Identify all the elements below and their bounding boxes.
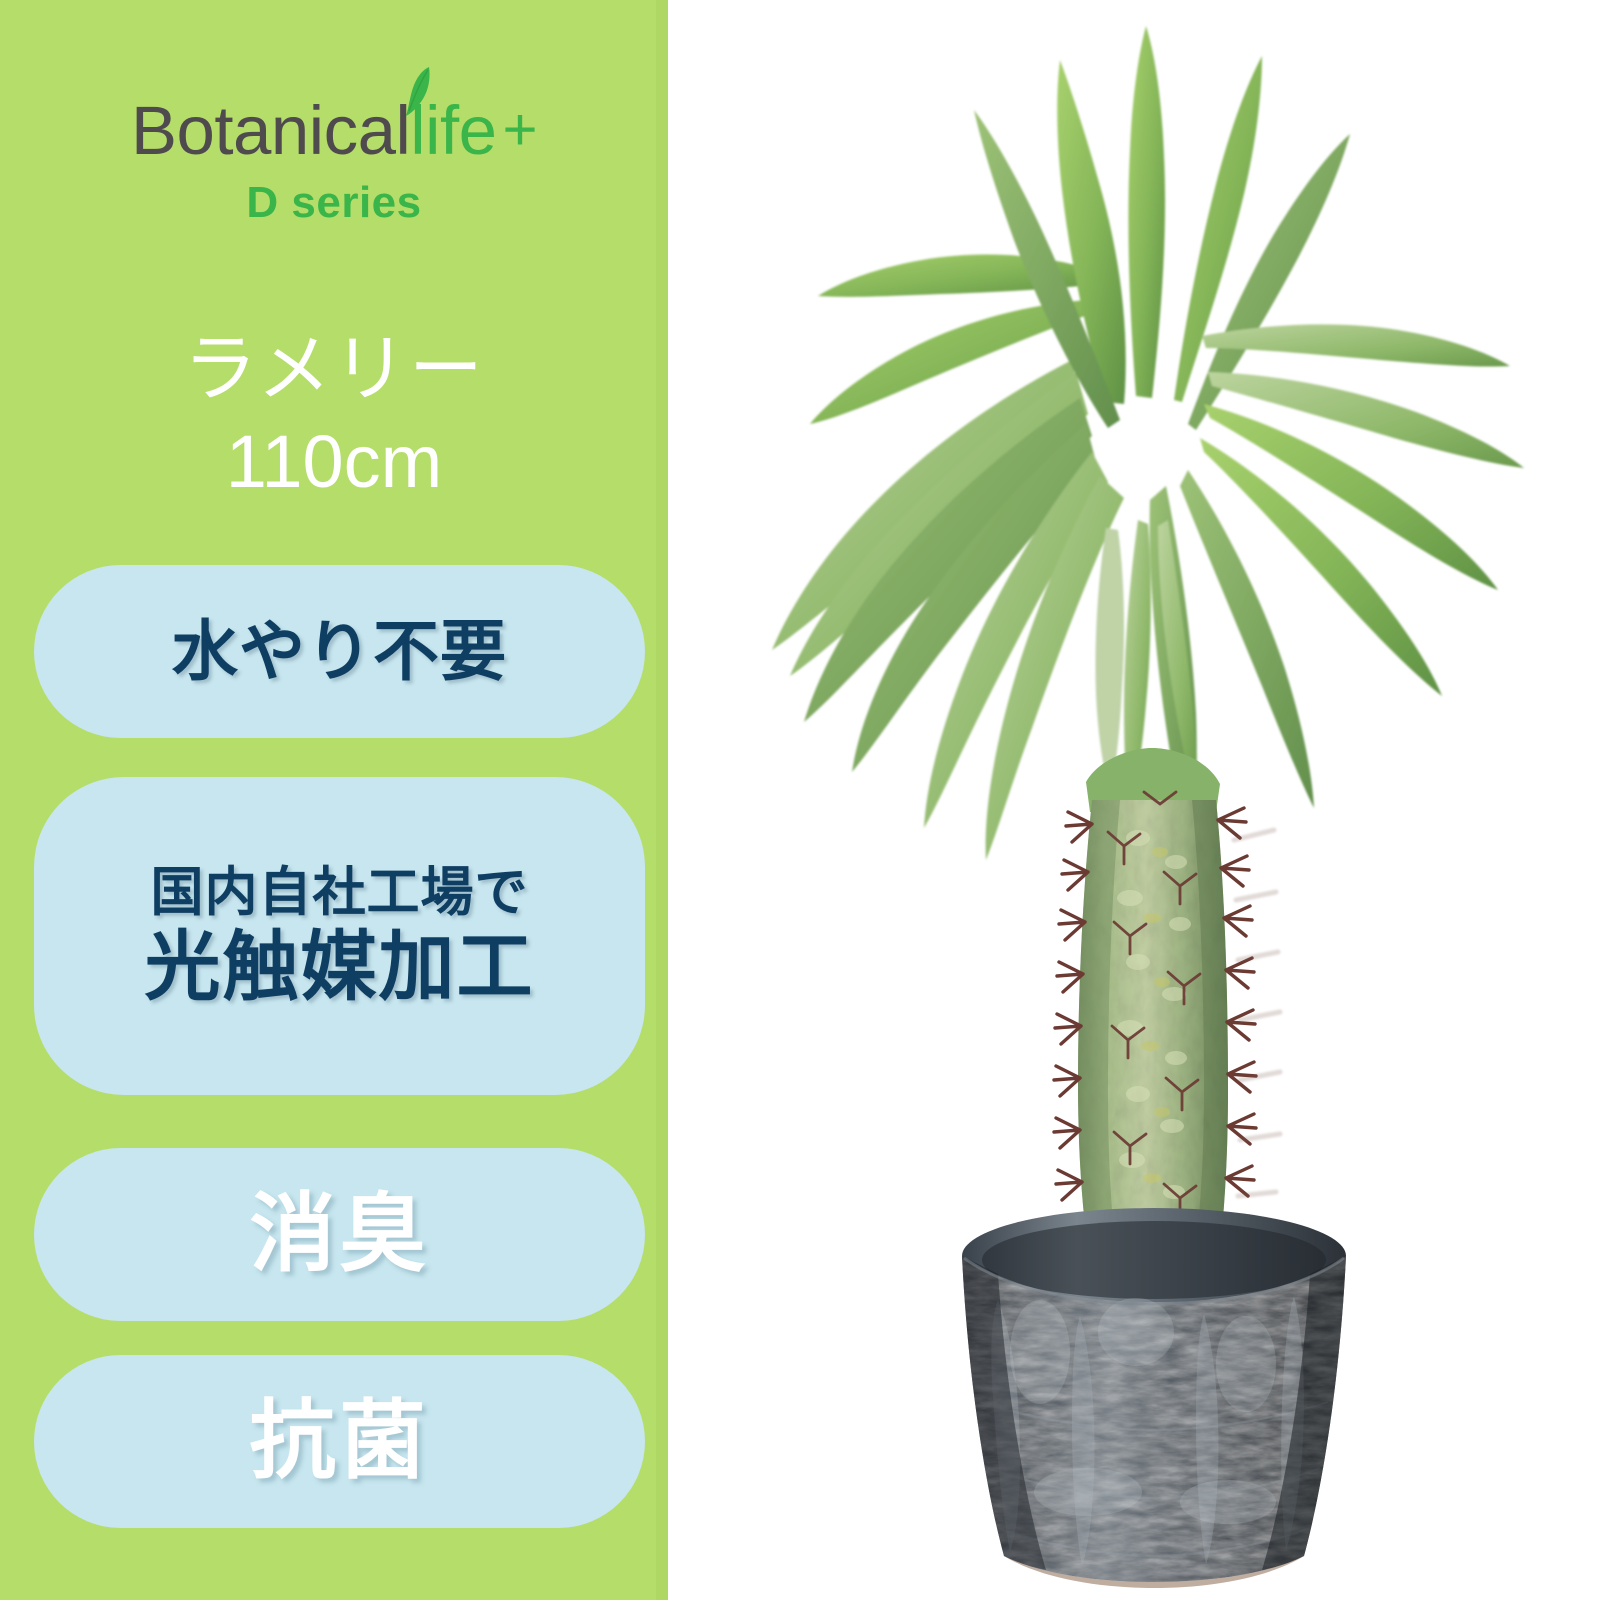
product-image-canvas: Botanicallife+ D series ラメリー 110cm 水やり不要… [0,0,1600,1600]
badge-label-line: 消臭 [250,1189,430,1279]
feature-badge-antibacterial[interactable]: 抗菌 [34,1355,645,1528]
feature-badge-no-watering[interactable]: 水やり不要 [34,565,645,738]
product-size-text: 110cm [0,415,668,508]
feature-badge-photocatalyst[interactable]: 国内自社工場で 光触媒加工 [34,777,645,1095]
product-name-text: ラメリー [0,322,668,415]
brand-series: D series [0,181,668,225]
plant-illustration [668,0,1600,1600]
badge-label-line-upper: 国内自社工場で [151,863,529,922]
ceramic-pot [962,1208,1346,1588]
brand-plus-symbol: + [503,96,538,163]
badge-label-line: 水やり不要 [172,616,507,687]
brand-lockup: Botanicallife+ D series [0,96,668,225]
badge-label-line: 抗菌 [250,1396,430,1486]
panel-edge-stripe [656,0,668,1600]
foliage-crown [772,26,1524,860]
feature-badge-deodorizing[interactable]: 消臭 [34,1148,645,1321]
brand-word-botanical: Botanical [131,92,410,169]
product-photo [668,0,1600,1600]
badge-label-line-lower: 光触媒加工 [145,927,535,1009]
brand-title: Botanicallife+ [131,96,537,165]
plant-trunk [1054,748,1280,1250]
product-title: ラメリー 110cm [0,322,668,508]
brand-word-life: life [410,92,496,169]
